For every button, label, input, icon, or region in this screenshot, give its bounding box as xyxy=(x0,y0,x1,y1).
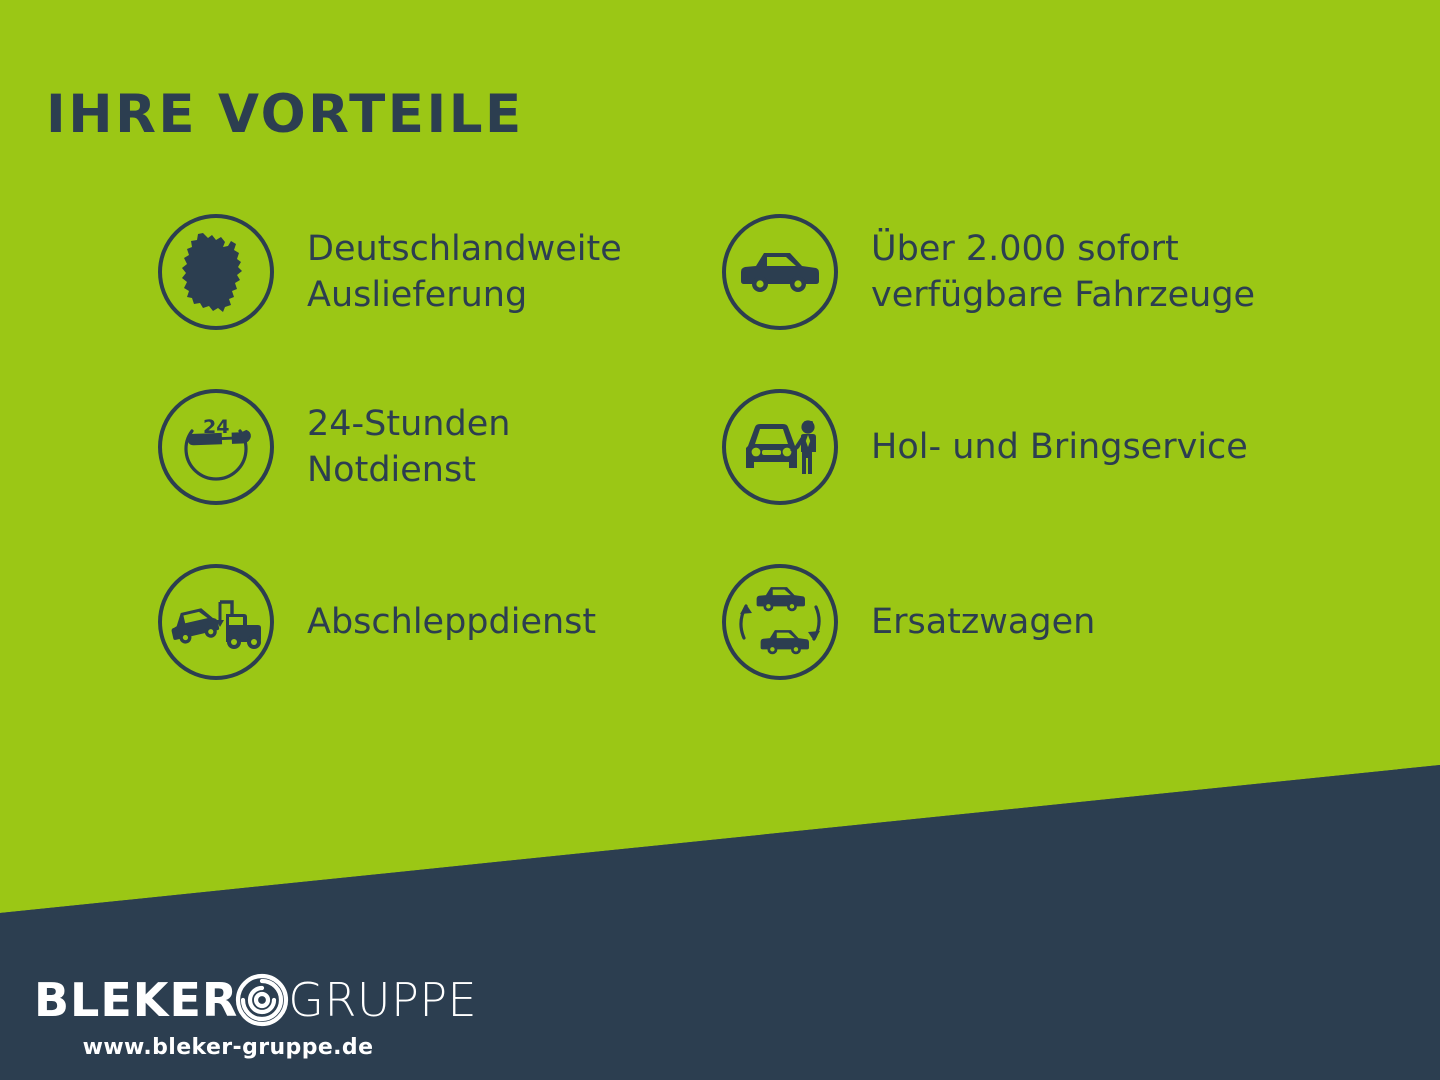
two-cars-exchange-icon xyxy=(722,564,838,680)
brand-logo[interactable]: BLEKER GRUPPE www.bleker-gruppe.de xyxy=(34,972,404,1060)
benefit-label: Über 2.000 sofort verfügbare Fahrzeuge xyxy=(871,226,1255,318)
benefit-label: Abschleppdienst xyxy=(307,599,596,645)
car-with-person-icon xyxy=(722,389,838,505)
spiral-logo-icon xyxy=(234,972,290,1028)
benefit-label: Ersatzwagen xyxy=(871,599,1095,645)
car-side-icon xyxy=(722,214,838,330)
benefit-item-verfuegbare-fahrzeuge[interactable]: Über 2.000 sofort verfügbare Fahrzeuge xyxy=(722,214,1255,330)
logo-name-light: GRUPPE xyxy=(288,977,477,1023)
benefit-item-abschleppdienst[interactable]: Abschleppdienst xyxy=(158,564,596,680)
benefit-item-24-stunden-notdienst[interactable]: 24 24-Stunden Notdienst xyxy=(158,389,510,505)
benefit-item-hol-und-bringservice[interactable]: Hol- und Bringservice xyxy=(722,389,1248,505)
benefit-item-deutschlandweite-auslieferung[interactable]: Deutschlandweite Auslieferung xyxy=(158,214,622,330)
benefit-label: 24-Stunden Notdienst xyxy=(307,401,510,493)
tow-truck-icon xyxy=(158,564,274,680)
benefit-item-ersatzwagen[interactable]: Ersatzwagen xyxy=(722,564,1095,680)
page-title: IHRE VORTEILE xyxy=(46,88,524,141)
logo-name-bold: BLEKER xyxy=(34,977,238,1023)
logo-wordmark: BLEKER GRUPPE xyxy=(34,972,404,1028)
slide-canvas: IHRE VORTEILE Deutschlandweite Ausliefer… xyxy=(0,0,1440,1080)
logo-website-url[interactable]: www.bleker-gruppe.de xyxy=(34,1035,404,1060)
benefit-label: Deutschlandweite Auslieferung xyxy=(307,226,622,318)
24-hour-wrench-icon: 24 xyxy=(158,389,274,505)
germany-map-icon xyxy=(158,214,274,330)
benefit-label: Hol- und Bringservice xyxy=(871,424,1248,470)
